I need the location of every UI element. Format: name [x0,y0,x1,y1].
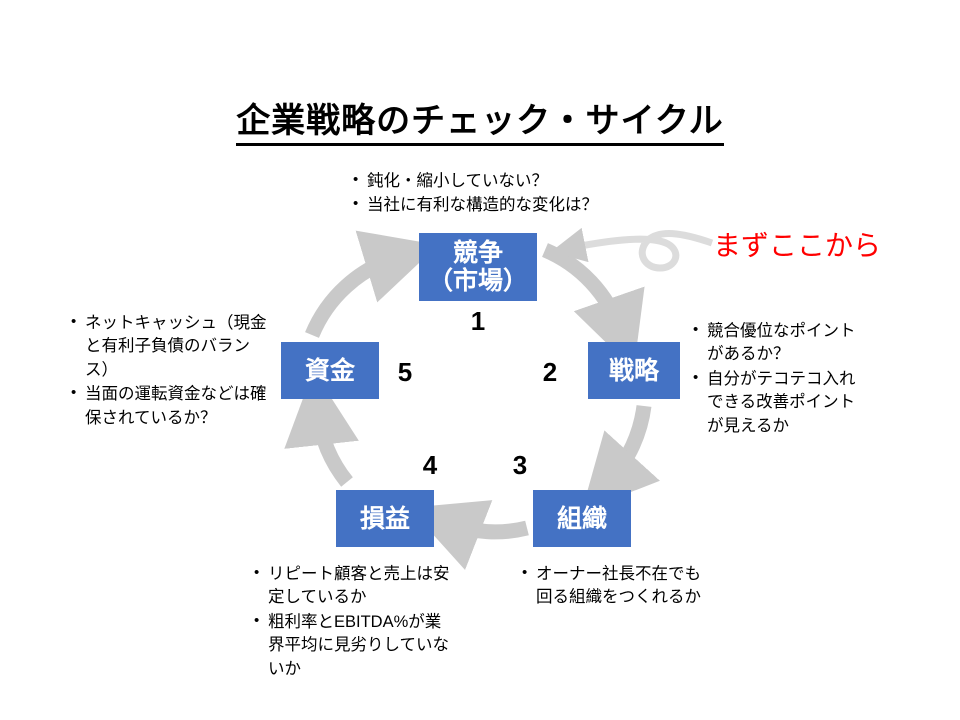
callout-organization-list: オーナー社長不在でも回る組織をつくれるか [521,563,711,610]
callout-competition-list: 鈍化・縮小していない？ 当社に有利な構造的な変化は？ [352,170,672,218]
callout-competition-bullet-2: 当社に有利な構造的な変化は？ [352,194,672,217]
callout-strategy-bullet-1: 競合優位なポイントがあるか？ [692,320,867,367]
node-profit-loss-line1: 損益 [360,505,410,533]
node-funds[interactable]: 資金 [281,342,379,399]
callout-funds-bullet-1: ネットキャッシュ（現金と有利子負債のバランス） [70,312,270,382]
node-organization-line1: 組織 [557,505,607,533]
node-strategy-line1: 戦略 [609,357,659,385]
node-organization[interactable]: 組織 [533,490,631,547]
callout-strategy-list: 競合優位なポイントがあるか？ 自分がテコテコ入れできる改善ポイントが見えるか [692,320,867,438]
step-number-5: 5 [385,357,425,388]
callout-profit-loss-list: リピート顧客と売上は安定しているか 粗利率とEBITDA%が業界平均に見劣りして… [253,563,453,681]
node-profit-loss[interactable]: 損益 [336,490,434,547]
node-funds-line1: 資金 [305,357,355,385]
callout-competition: 鈍化・縮小していない？ 当社に有利な構造的な変化は？ [352,170,672,219]
node-competition[interactable]: 競争 （市場） [419,233,537,301]
callout-organization: オーナー社長不在でも回る組織をつくれるか [521,563,711,611]
node-competition-line2: （市場） [428,267,528,295]
callout-strategy: 競合優位なポイントがあるか？ 自分がテコテコ入れできる改善ポイントが見えるか [692,320,867,439]
arrow-organization-to-profit [448,523,527,532]
callout-organization-bullet-1: オーナー社長不在でも回る組織をつくれるか [521,563,711,610]
step-number-3: 3 [500,450,540,481]
step-number-4: 4 [410,450,450,481]
arrow-strategy-to-organization [610,406,644,480]
callout-funds-bullet-2: 当面の運転資金などは確保されているか？ [70,383,270,430]
callout-funds: ネットキャッシュ（現金と有利子負債のバランス） 当面の運転資金などは確保されてい… [70,312,270,431]
node-competition-line1: 競争 [453,239,503,267]
callout-strategy-bullet-2: 自分がテコテコ入れできる改善ポイントが見えるか [692,368,867,438]
arrow-profit-to-funds [318,412,347,482]
node-strategy[interactable]: 戦略 [588,342,680,399]
callout-funds-list: ネットキャッシュ（現金と有利子負債のバランス） 当面の運転資金などは確保されてい… [70,312,270,430]
callout-profit-loss-bullet-1: リピート顧客と売上は安定しているか [253,563,453,610]
start-here-pointer-arrow [570,234,712,268]
step-number-1: 1 [458,306,498,337]
slide-canvas: 企業戦略のチェック・サイクル まずここから 競争 （市場） 戦略 組織 [0,0,960,720]
callout-competition-bullet-1: 鈍化・縮小していない？ [352,170,672,193]
arrow-funds-to-competition [312,257,398,335]
callout-profit-loss-bullet-2: 粗利率とEBITDA%が業界平均に見劣りしていないか [253,611,453,681]
callout-profit-loss: リピート顧客と売上は安定しているか 粗利率とEBITDA%が業界平均に見劣りして… [253,563,453,682]
start-here-label: まずここから [713,224,881,264]
step-number-2: 2 [530,357,570,388]
arrow-competition-to-strategy [545,250,620,330]
